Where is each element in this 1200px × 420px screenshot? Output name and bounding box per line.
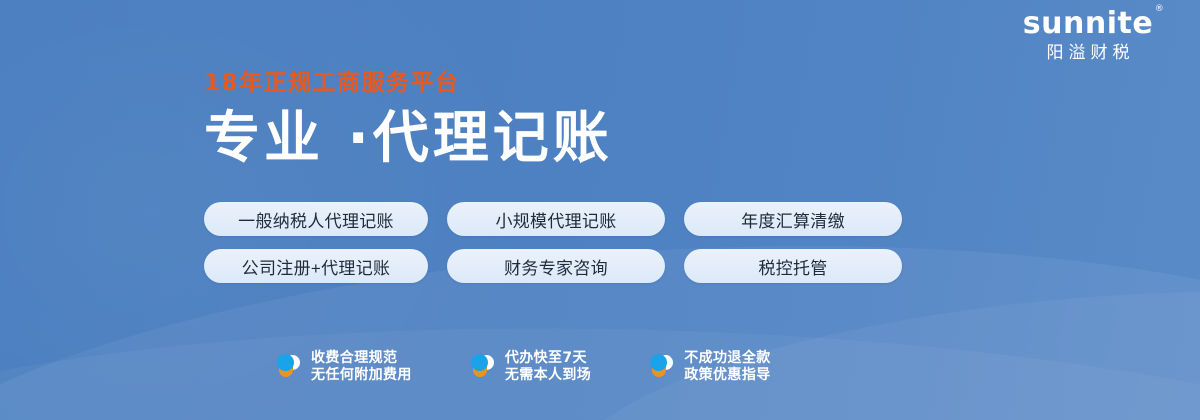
half-moon-drop-icon [276,352,302,382]
brand-logo[interactable]: sunnite® 阳溢财税 [998,8,1178,62]
feature-text: 代办快至7天 无需本人到场 [505,350,591,384]
service-pill[interactable]: 小规模代理记账 [447,202,665,236]
feature-text: 收费合理规范 无任何附加费用 [311,350,412,384]
promo-banner: sunnite® 阳溢财税 18年正规工商服务平台 专业 ·代理记账 一般纳税人… [0,0,1200,420]
dot-shape [277,354,294,371]
logo-wordmark: sunnite® [1023,8,1153,40]
feature-line-2: 无需本人到场 [505,367,591,384]
feature-text: 不成功退全款 政策优惠指导 [684,350,770,384]
half-moon-drop-icon [649,352,675,382]
feature-item: 代办快至7天 无需本人到场 [470,350,591,384]
service-pill[interactable]: 年度汇算清缴 [684,202,902,236]
feature-item: 收费合理规范 无任何附加费用 [276,350,412,384]
feature-line-2: 政策优惠指导 [684,367,770,384]
service-pill[interactable]: 一般纳税人代理记账 [204,202,428,236]
service-pill[interactable]: 财务专家咨询 [447,249,665,283]
feature-item: 不成功退全款 政策优惠指导 [649,350,770,384]
registered-trademark-icon: ® [1155,5,1165,14]
hero-text-block: 18年正规工商服务平台 专业 ·代理记账 [204,72,613,168]
service-pill-grid: 一般纳税人代理记账 小规模代理记账 年度汇算清缴 公司注册+代理记账 财务专家咨… [204,202,910,283]
feature-line-2: 无任何附加费用 [311,367,412,384]
logo-chinese-name: 阳溢财税 [998,44,1178,63]
service-pill[interactable]: 税控托管 [684,249,902,283]
feature-line-1: 收费合理规范 [311,350,412,367]
page-title: 专业 ·代理记账 [204,109,613,168]
feature-line-1: 代办快至7天 [505,350,591,367]
service-pill[interactable]: 公司注册+代理记账 [204,249,428,283]
dot-shape [471,354,488,371]
feature-line-1: 不成功退全款 [684,350,770,367]
half-moon-drop-icon [470,352,496,382]
feature-strip: 收费合理规范 无任何附加费用 代办快至7天 无需本人到场 不成功退全款 [276,350,771,384]
hero-eyebrow: 18年正规工商服务平台 [204,72,613,95]
